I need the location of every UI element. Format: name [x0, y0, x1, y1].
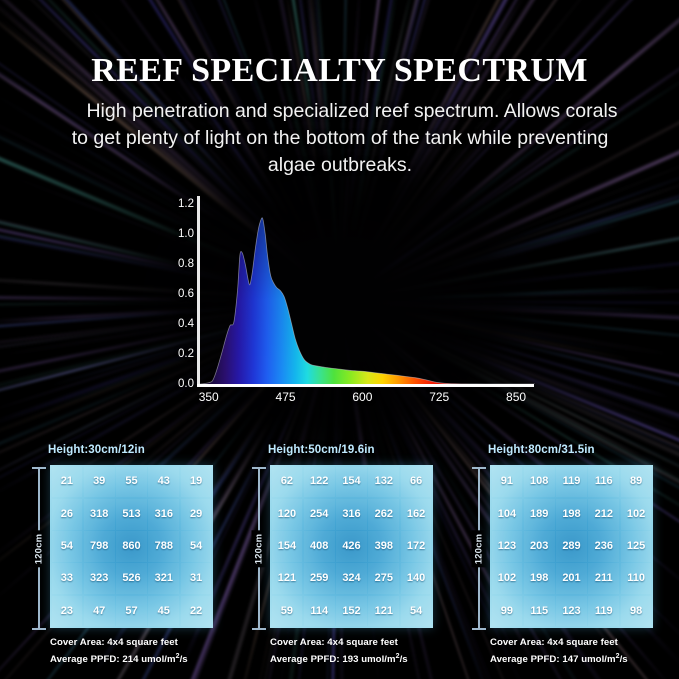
ppfd-cell: 47	[84, 596, 115, 627]
ppfd-panel: Height:30cm/12in120cm2139554319263185133…	[22, 440, 237, 679]
ppfd-cell: 45	[148, 596, 179, 627]
dimension-label: 120cm	[32, 530, 47, 567]
x-axis-tick: 725	[429, 390, 449, 404]
ppfd-cell: 108	[524, 467, 555, 498]
ppfd-cell: 119	[588, 596, 619, 627]
x-axis-tick: 475	[276, 390, 296, 404]
ppfd-cell: 262	[368, 499, 399, 530]
ppfd-cell: 798	[84, 531, 115, 562]
ppfd-cell: 198	[524, 563, 555, 594]
ppfd-cell: 54	[181, 531, 212, 562]
ppfd-cell: 860	[116, 531, 147, 562]
ppfd-cell: 89	[621, 467, 652, 498]
ppfd-cell: 172	[401, 531, 432, 562]
x-axis-line	[197, 384, 534, 387]
y-axis-tick: 0.2	[178, 348, 194, 360]
ppfd-cell: 57	[116, 596, 147, 627]
ppfd-cell: 513	[116, 499, 147, 530]
ppfd-cell: 98	[621, 596, 652, 627]
ppfd-cell: 275	[368, 563, 399, 594]
ppfd-cell: 104	[492, 499, 523, 530]
ppfd-cell: 203	[524, 531, 555, 562]
ppfd-cell: 119	[556, 467, 587, 498]
ppfd-panel-caption: Cover Area: 4x4 square feetAverage PPFD:…	[270, 636, 408, 667]
ppfd-panel-title: Height:80cm/31.5in	[488, 444, 595, 456]
ppfd-cell: 91	[492, 467, 523, 498]
cover-area-text: Cover Area: 4x4 square feet	[490, 636, 628, 650]
spectrum-curve	[200, 196, 535, 384]
average-ppfd-text: Average PPFD: 214 umol/m2/s	[50, 650, 188, 667]
ppfd-cell: 236	[588, 531, 619, 562]
ppfd-cell: 140	[401, 563, 432, 594]
average-ppfd-text: Average PPFD: 193 umol/m2/s	[270, 650, 408, 667]
dimension-cap-top	[472, 467, 486, 469]
y-axis-tick: 0.4	[178, 318, 194, 330]
dimension-cap-bottom	[472, 628, 486, 630]
ppfd-cell: 59	[272, 596, 303, 627]
ppfd-cell: 39	[84, 467, 115, 498]
y-axis-tick-labels: 0.00.20.40.60.81.01.2	[168, 196, 194, 386]
ppfd-cell: 123	[492, 531, 523, 562]
ppfd-cell: 198	[556, 499, 587, 530]
ppfd-panel-title: Height:50cm/19.6in	[268, 444, 375, 456]
ppfd-grid: 9110811911689104189198212102123203289236…	[490, 465, 653, 628]
ppfd-cell: 212	[588, 499, 619, 530]
ppfd-cell: 33	[52, 563, 83, 594]
ppfd-cell: 788	[148, 531, 179, 562]
spectrum-plot-area	[200, 196, 535, 384]
ppfd-panel-title: Height:30cm/12in	[48, 444, 145, 456]
ppfd-cell: 54	[52, 531, 83, 562]
ppfd-cell: 321	[148, 563, 179, 594]
ppfd-cell: 259	[304, 563, 335, 594]
ppfd-cell: 121	[272, 563, 303, 594]
average-ppfd-text: Average PPFD: 147 umol/m2/s	[490, 650, 628, 667]
ppfd-cell: 29	[181, 499, 212, 530]
y-axis-tick: 1.0	[178, 228, 194, 240]
ppfd-cell: 110	[621, 563, 652, 594]
ppfd-cell: 120	[272, 499, 303, 530]
ppfd-grid: 2139554319263185133162954798860788543332…	[50, 465, 213, 628]
x-axis-tick: 350	[199, 390, 219, 404]
ppfd-cell: 254	[304, 499, 335, 530]
ppfd-panel: Height:80cm/31.5in120cm91108119116891041…	[462, 440, 677, 679]
ppfd-cell: 102	[621, 499, 652, 530]
dimension-label: 120cm	[472, 530, 487, 567]
ppfd-cell: 154	[272, 531, 303, 562]
ppfd-cell: 201	[556, 563, 587, 594]
x-axis-tick: 850	[506, 390, 526, 404]
ppfd-cell: 324	[336, 563, 367, 594]
ppfd-cell: 289	[556, 531, 587, 562]
dimension-bar: 120cm	[249, 467, 269, 630]
cover-area-text: Cover Area: 4x4 square feet	[270, 636, 408, 650]
ppfd-cell: 55	[116, 467, 147, 498]
spectrum-chart: 0.00.20.40.60.81.01.2	[168, 196, 540, 412]
ppfd-cell: 122	[304, 467, 335, 498]
ppfd-cell: 189	[524, 499, 555, 530]
ppfd-cell: 102	[492, 563, 523, 594]
ppfd-cell: 19	[181, 467, 212, 498]
ppfd-cell: 316	[336, 499, 367, 530]
dimension-cap-top	[32, 467, 46, 469]
ppfd-cell: 211	[588, 563, 619, 594]
ppfd-cell: 66	[401, 467, 432, 498]
ppfd-cell: 162	[401, 499, 432, 530]
ppfd-cell: 398	[368, 531, 399, 562]
page-subtitle: High penetration and specialized reef sp…	[56, 98, 624, 179]
ppfd-cell: 114	[304, 596, 335, 627]
ppfd-cell: 323	[84, 563, 115, 594]
dimension-bar: 120cm	[469, 467, 489, 630]
ppfd-cell: 31	[181, 563, 212, 594]
x-axis-tick: 600	[352, 390, 372, 404]
page-title: REEF SPECIALTY SPECTRUM	[0, 52, 679, 90]
dimension-cap-top	[252, 467, 266, 469]
ppfd-panel-group: Height:30cm/12in120cm2139554319263185133…	[0, 440, 679, 679]
ppfd-cell: 316	[148, 499, 179, 530]
ppfd-cell: 526	[116, 563, 147, 594]
dimension-label: 120cm	[252, 530, 267, 567]
ppfd-cell: 23	[52, 596, 83, 627]
ppfd-cell: 62	[272, 467, 303, 498]
ppfd-cell: 121	[368, 596, 399, 627]
ppfd-cell: 22	[181, 596, 212, 627]
dimension-bar: 120cm	[29, 467, 49, 630]
ppfd-cell: 426	[336, 531, 367, 562]
ppfd-cell: 26	[52, 499, 83, 530]
ppfd-cell: 123	[556, 596, 587, 627]
ppfd-panel-caption: Cover Area: 4x4 square feetAverage PPFD:…	[50, 636, 188, 667]
ppfd-cell: 125	[621, 531, 652, 562]
ppfd-cell: 115	[524, 596, 555, 627]
ppfd-cell: 152	[336, 596, 367, 627]
y-axis-tick: 1.2	[178, 198, 194, 210]
ppfd-cell: 318	[84, 499, 115, 530]
ppfd-cell: 132	[368, 467, 399, 498]
ppfd-cell: 54	[401, 596, 432, 627]
x-axis-tick-labels: 350475600725850	[200, 390, 535, 408]
ppfd-cell: 99	[492, 596, 523, 627]
y-axis-tick: 0.6	[178, 288, 194, 300]
ppfd-panel-caption: Cover Area: 4x4 square feetAverage PPFD:…	[490, 636, 628, 667]
y-axis-tick: 0.0	[178, 378, 194, 390]
ppfd-cell: 408	[304, 531, 335, 562]
dimension-cap-bottom	[32, 628, 46, 630]
ppfd-cell: 43	[148, 467, 179, 498]
cover-area-text: Cover Area: 4x4 square feet	[50, 636, 188, 650]
ppfd-grid: 6212215413266120254316262162154408426398…	[270, 465, 433, 628]
y-axis-tick: 0.8	[178, 258, 194, 270]
dimension-cap-bottom	[252, 628, 266, 630]
ppfd-cell: 116	[588, 467, 619, 498]
ppfd-cell: 21	[52, 467, 83, 498]
ppfd-cell: 154	[336, 467, 367, 498]
ppfd-panel: Height:50cm/19.6in120cm62122154132661202…	[242, 440, 457, 679]
